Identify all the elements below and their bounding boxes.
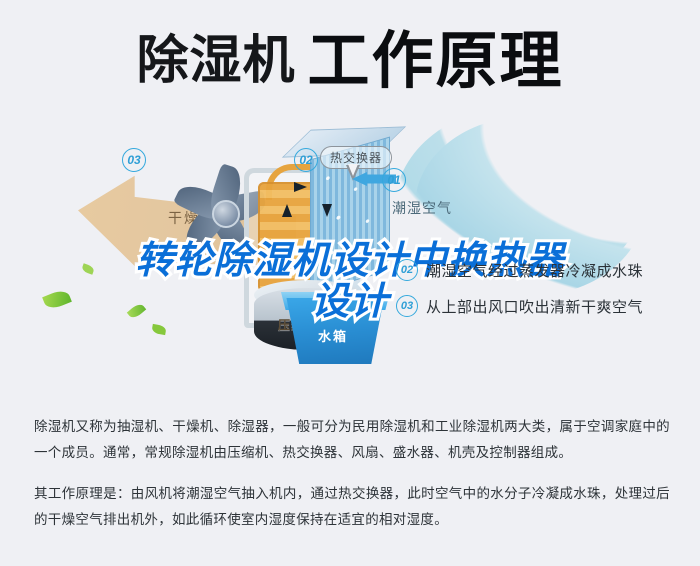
badge-03-diagram: 03 — [122, 148, 146, 172]
body-paragraph-2: 其工作原理是：由风机将潮湿空气抽入机内，通过热交换器，此时空气中的水分子冷凝成水… — [34, 481, 670, 534]
flow-arrow-down-icon — [322, 204, 332, 217]
badge-number: 03 — [122, 148, 146, 172]
flow-arrow-right-icon — [294, 182, 307, 192]
badge-02-diagram: 02 — [294, 148, 318, 172]
legend-item: 02 潮湿空气经过蒸发器冷凝成水珠 — [396, 252, 696, 288]
badge-number: 03 — [396, 295, 418, 317]
water-tank-label: 水箱 — [318, 326, 348, 345]
badge-01-diagram: 01 — [382, 168, 406, 192]
page-title-part1: 除湿机 — [136, 35, 295, 87]
humid-air-label: 潮湿空气 — [392, 198, 452, 218]
leaf-icon — [127, 302, 146, 321]
body-paragraph-1: 除湿机又称为抽湿机、干燥机、除湿器，一般可分为民用除湿机和工业除湿机两大类，属于… — [34, 414, 670, 467]
legend-item: 03 从上部出风口吹出清新干爽空气 — [396, 288, 696, 324]
leaf-icon — [81, 263, 95, 275]
badge-number: 02 — [294, 148, 318, 172]
flow-arrow-up-icon — [282, 204, 292, 217]
body-copy: 除湿机又称为抽湿机、干燥机、除湿器，一般可分为民用除湿机和工业除湿机两大类，属于… — [34, 414, 670, 547]
page-title-part2: 工作原理 — [308, 30, 564, 92]
leaf-icon — [151, 324, 166, 335]
infographic-page: 除湿机 工作原理 干燥空气 03 — [0, 0, 700, 566]
legend-item-label: 潮湿空气经过蒸发器冷凝成水珠 — [426, 260, 643, 281]
legend-item-label: 从上部出风口吹出清新干爽空气 — [426, 296, 643, 317]
leaf-icon — [42, 288, 72, 312]
page-title: 除湿机 工作原理 — [0, 18, 700, 104]
legend-list: 02 潮湿空气经过蒸发器冷凝成水珠 03 从上部出风口吹出清新干爽空气 — [396, 252, 696, 324]
badge-number: 02 — [396, 259, 418, 281]
badge-number: 01 — [382, 168, 406, 192]
